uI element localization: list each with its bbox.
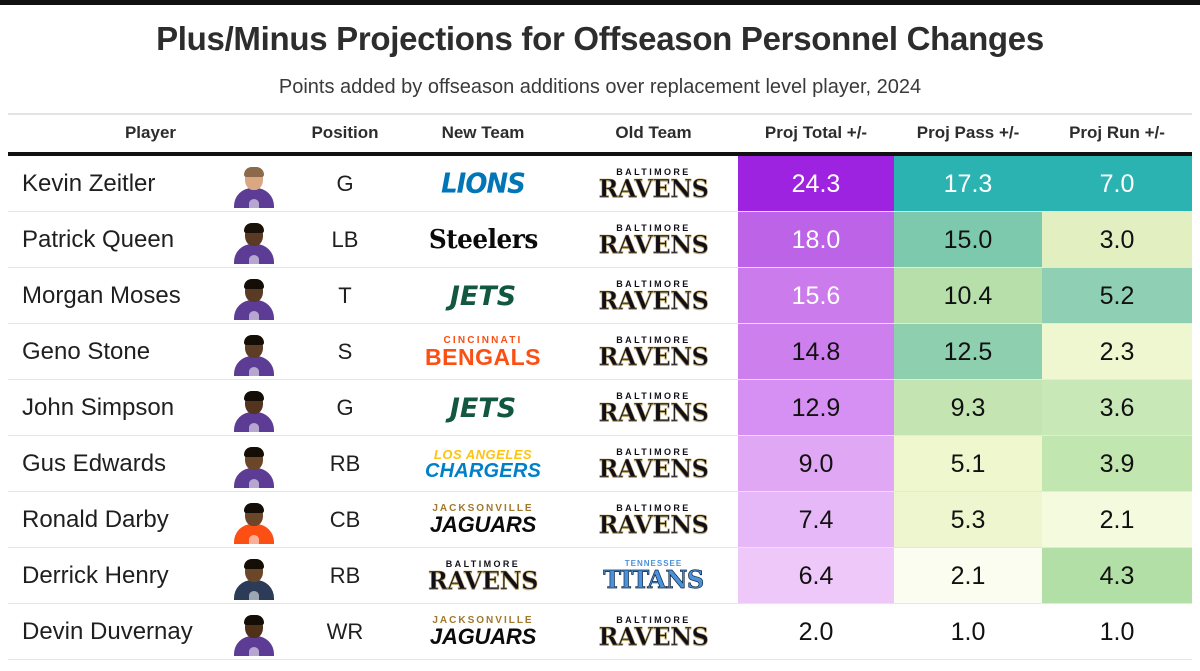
player-headshot: [232, 220, 276, 264]
team-logo-ravens: BALTIMORERAVENS: [598, 448, 708, 481]
column-header-proj-run[interactable]: Proj Run +/-: [1042, 118, 1192, 152]
proj-total-cell: 6.4: [738, 548, 894, 604]
proj-pass-cell: 15.0: [894, 212, 1042, 268]
table-row[interactable]: Geno StoneSCINCINNATIBENGALSBALTIMORERAV…: [0, 324, 1200, 380]
new-team-cell: CINCINNATIBENGALS: [397, 324, 569, 380]
proj-total-cell: 12.9: [738, 380, 894, 436]
old-team-cell: TENNESSEETITANS: [569, 548, 738, 604]
column-header-position[interactable]: Position: [293, 118, 397, 152]
proj-pass-cell: 5.3: [894, 492, 1042, 548]
top-border-rule: [0, 0, 1200, 5]
team-logo-titans: TENNESSEETITANS: [603, 560, 704, 592]
table-row[interactable]: John SimpsonGJETSBALTIMORERAVENS12.99.33…: [0, 380, 1200, 436]
player-position-cell: LB: [293, 212, 397, 268]
proj-total-cell: 2.0: [738, 604, 894, 660]
new-team-cell: JACKSONVILLEJAGUARS: [397, 492, 569, 548]
column-header-proj-total[interactable]: Proj Total +/-: [738, 118, 894, 152]
player-position-cell: CB: [293, 492, 397, 548]
old-team-cell: BALTIMORERAVENS: [569, 380, 738, 436]
table-row[interactable]: Ronald DarbyCBJACKSONVILLEJAGUARSBALTIMO…: [0, 492, 1200, 548]
new-team-cell: JETS: [397, 380, 569, 436]
player-position-cell: G: [293, 380, 397, 436]
player-position-cell: RB: [293, 548, 397, 604]
table-header-row: Player Position New Team Old Team Proj T…: [0, 118, 1200, 152]
proj-pass-cell: 5.1: [894, 436, 1042, 492]
table-row[interactable]: Patrick QueenLBSteelersBALTIMORERAVENS18…: [0, 212, 1200, 268]
page-title: Plus/Minus Projections for Offseason Per…: [0, 20, 1200, 58]
new-team-cell: Steelers: [397, 212, 569, 268]
team-logo-ravens: BALTIMORERAVENS: [598, 224, 708, 257]
proj-total-cell: 18.0: [738, 212, 894, 268]
team-logo-ravens: BALTIMORERAVENS: [598, 504, 708, 537]
player-headshot: [232, 556, 276, 600]
proj-pass-cell: 10.4: [894, 268, 1042, 324]
player-position-cell: S: [293, 324, 397, 380]
old-team-cell: BALTIMORERAVENS: [569, 212, 738, 268]
column-header-player[interactable]: Player: [8, 118, 293, 152]
projection-table-page: Plus/Minus Projections for Offseason Per…: [0, 0, 1200, 671]
player-position-cell: T: [293, 268, 397, 324]
proj-run-cell: 2.1: [1042, 492, 1192, 548]
proj-total-cell: 7.4: [738, 492, 894, 548]
player-headshot: [232, 500, 276, 544]
team-logo-jets: JETS: [450, 283, 516, 310]
player-headshot: [232, 164, 276, 208]
player-headshot: [232, 388, 276, 432]
new-team-cell: LOS ANGELESCHARGERS: [397, 436, 569, 492]
team-logo-ravens: BALTIMORERAVENS: [598, 336, 708, 369]
row-divider: [8, 659, 1192, 660]
proj-run-cell: 2.3: [1042, 324, 1192, 380]
proj-total-cell: 14.8: [738, 324, 894, 380]
old-team-cell: BALTIMORERAVENS: [569, 436, 738, 492]
table-row[interactable]: Derrick HenryRBBALTIMORERAVENSTENNESSEET…: [0, 548, 1200, 604]
team-logo-jets: JETS: [450, 395, 516, 422]
team-logo-steelers: Steelers: [429, 227, 538, 253]
team-logo-ravens: BALTIMORERAVENS: [598, 392, 708, 425]
proj-total-cell: 24.3: [738, 156, 894, 212]
team-logo-jaguars: JACKSONVILLEJAGUARS: [430, 504, 536, 536]
table-body: Kevin ZeitlerGLIONSBALTIMORERAVENS24.317…: [0, 156, 1200, 660]
proj-pass-cell: 12.5: [894, 324, 1042, 380]
new-team-cell: JACKSONVILLEJAGUARS: [397, 604, 569, 660]
team-logo-ravens: BALTIMORERAVENS: [598, 168, 708, 201]
proj-run-cell: 3.0: [1042, 212, 1192, 268]
table-row[interactable]: Kevin ZeitlerGLIONSBALTIMORERAVENS24.317…: [0, 156, 1200, 212]
table-row[interactable]: Devin DuvernayWRJACKSONVILLEJAGUARSBALTI…: [0, 604, 1200, 660]
column-header-new-team[interactable]: New Team: [397, 118, 569, 152]
new-team-cell: JETS: [397, 268, 569, 324]
player-headshot: [232, 612, 276, 656]
old-team-cell: BALTIMORERAVENS: [569, 492, 738, 548]
player-position-cell: WR: [293, 604, 397, 660]
new-team-cell: LIONS: [397, 156, 569, 212]
page-subtitle: Points added by offseason additions over…: [0, 76, 1200, 99]
old-team-cell: BALTIMORERAVENS: [569, 604, 738, 660]
table-row[interactable]: Morgan MosesTJETSBALTIMORERAVENS15.610.4…: [0, 268, 1200, 324]
team-logo-lions: LIONS: [441, 170, 525, 197]
proj-run-cell: 3.6: [1042, 380, 1192, 436]
old-team-cell: BALTIMORERAVENS: [569, 324, 738, 380]
player-headshot: [232, 444, 276, 488]
proj-pass-cell: 2.1: [894, 548, 1042, 604]
column-header-old-team[interactable]: Old Team: [569, 118, 738, 152]
proj-run-cell: 4.3: [1042, 548, 1192, 604]
player-position-cell: RB: [293, 436, 397, 492]
team-logo-chargers: LOS ANGELESCHARGERS: [425, 448, 541, 481]
proj-run-cell: 1.0: [1042, 604, 1192, 660]
team-logo-ravens: BALTIMORERAVENS: [598, 280, 708, 313]
team-logo-ravens: BALTIMORERAVENS: [428, 560, 538, 593]
proj-pass-cell: 9.3: [894, 380, 1042, 436]
team-logo-jaguars: JACKSONVILLEJAGUARS: [430, 616, 536, 648]
proj-total-cell: 9.0: [738, 436, 894, 492]
proj-run-cell: 3.9: [1042, 436, 1192, 492]
proj-run-cell: 7.0: [1042, 156, 1192, 212]
player-position-cell: G: [293, 156, 397, 212]
proj-pass-cell: 1.0: [894, 604, 1042, 660]
player-headshot: [232, 332, 276, 376]
old-team-cell: BALTIMORERAVENS: [569, 268, 738, 324]
proj-total-cell: 15.6: [738, 268, 894, 324]
header-top-divider: [8, 113, 1192, 115]
proj-pass-cell: 17.3: [894, 156, 1042, 212]
table-row[interactable]: Gus EdwardsRBLOS ANGELESCHARGERSBALTIMOR…: [0, 436, 1200, 492]
proj-run-cell: 5.2: [1042, 268, 1192, 324]
player-headshot: [232, 276, 276, 320]
new-team-cell: BALTIMORERAVENS: [397, 548, 569, 604]
old-team-cell: BALTIMORERAVENS: [569, 156, 738, 212]
team-logo-bengals: CINCINNATIBENGALS: [425, 336, 541, 369]
column-header-proj-pass[interactable]: Proj Pass +/-: [894, 118, 1042, 152]
team-logo-ravens: BALTIMORERAVENS: [598, 616, 708, 649]
